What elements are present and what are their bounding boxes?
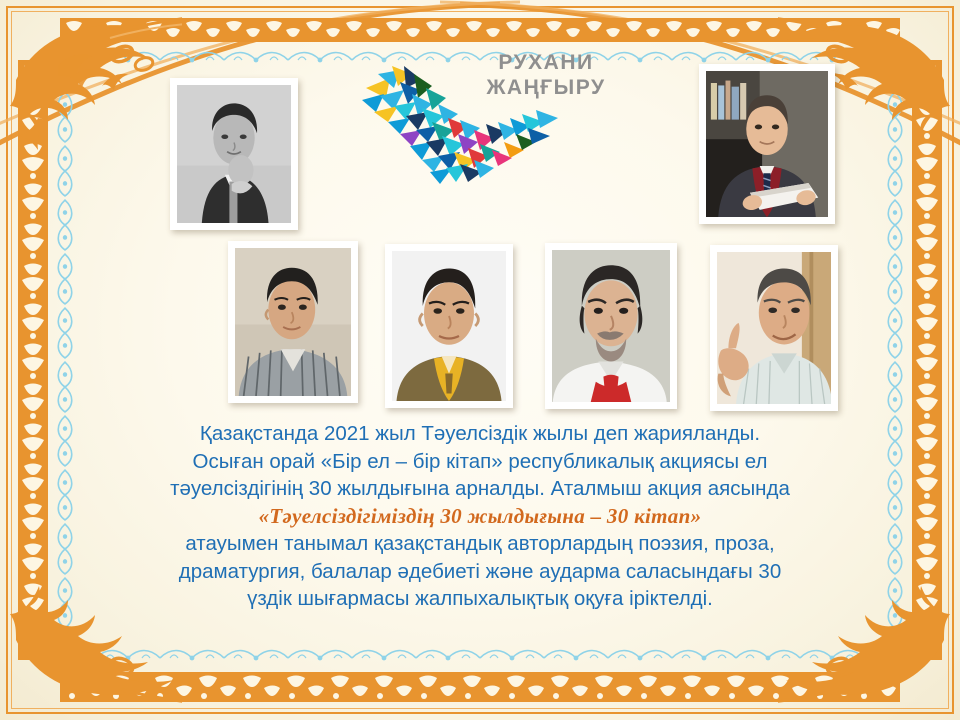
ornament-band-bottom bbox=[60, 672, 900, 702]
ornament-band-right bbox=[912, 60, 942, 660]
photo-author-4 bbox=[385, 244, 513, 408]
photo-author-2 bbox=[699, 64, 835, 224]
logo-line-2: ЖАҢҒЫРУ bbox=[456, 75, 636, 100]
body-text-block: Қазақстанда 2021 жыл Тәуелсіздік жылы де… bbox=[110, 420, 850, 613]
text-line-1: Қазақстанда 2021 жыл Тәуелсіздік жылы де… bbox=[110, 420, 850, 448]
text-line-highlight: «Тәуелсіздігіміздің 30 жылдығына – 30 кі… bbox=[110, 503, 850, 531]
text-line-7: үздік шығармасы жалпыхалықтық оқуға ірік… bbox=[110, 585, 850, 613]
blue-floral-band-bottom bbox=[96, 644, 864, 668]
ornament-band-left bbox=[18, 60, 48, 660]
text-line-6: драматургия, балалар әдебиеті және аудар… bbox=[110, 558, 850, 586]
logo-wordmark: РУХАНИ ЖАҢҒЫРУ bbox=[456, 50, 636, 100]
photo-author-1-image bbox=[177, 85, 291, 223]
photo-author-6 bbox=[710, 245, 838, 411]
photo-author-3-image bbox=[235, 248, 351, 396]
photo-author-6-image bbox=[717, 252, 831, 404]
blue-floral-band-right bbox=[882, 90, 908, 630]
photo-author-1 bbox=[170, 78, 298, 230]
photo-author-4-image bbox=[392, 251, 506, 401]
rukhani-zhangyru-logo: РУХАНИ ЖАҢҒЫРУ bbox=[360, 22, 630, 197]
presentation-slide: РУХАНИ ЖАҢҒЫРУ bbox=[0, 0, 960, 720]
text-line-5: атауымен танымал қазақстандық авторларды… bbox=[110, 530, 850, 558]
text-line-3: тәуелсіздігінің 30 жылдығына арналды. Ат… bbox=[110, 475, 850, 503]
photo-author-5-image bbox=[552, 250, 670, 402]
text-line-2: Осыған орай «Бір ел – бір кітап» республ… bbox=[110, 448, 850, 476]
corner-ornament-top-left bbox=[2, 2, 182, 182]
logo-line-1: РУХАНИ bbox=[456, 50, 636, 75]
photo-author-2-image bbox=[706, 71, 828, 217]
photo-author-5 bbox=[545, 243, 677, 409]
blue-floral-band-left bbox=[52, 90, 78, 630]
photo-author-3 bbox=[228, 241, 358, 403]
